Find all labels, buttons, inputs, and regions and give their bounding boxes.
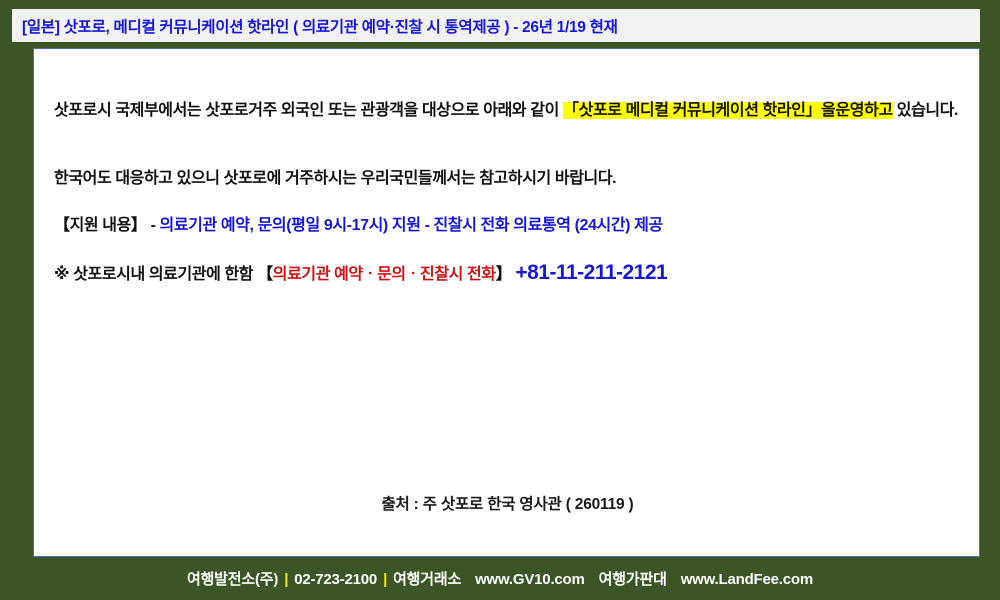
footer-company: 여행발전소(주) bbox=[187, 571, 278, 588]
footer-bar: 여행발전소(주)|02-723-2100|여행거래소www.GV10.com여행… bbox=[0, 557, 1000, 600]
footer-brand-1-label: 여행거래소 bbox=[393, 571, 461, 588]
note-prefix: ※ 삿포로시내 의료기관에 한함 【 bbox=[54, 266, 273, 283]
notice-line: 한국어도 대응하고 있으니 삿포로에 거주하시는 우리국민들께서는 참고하시기 … bbox=[54, 164, 981, 194]
intro-highlight-1: 「삿포로 메디컬 커뮤니케이션 핫라인」을 bbox=[563, 102, 835, 119]
footer-brand-1-url[interactable]: www.GV10.com bbox=[475, 571, 585, 588]
poster-page: [일본] 삿포로, 메디컬 커뮤니케이션 핫라인 ( 의료기관 예약·진찰 시 … bbox=[0, 0, 1000, 600]
footer-text: 여행발전소(주)|02-723-2100|여행거래소www.GV10.com여행… bbox=[187, 568, 813, 589]
content-card: 삿포로시 국제부에서는 삿포로거주 외국인 또는 관광객을 대상으로 아래와 같… bbox=[33, 48, 980, 557]
notice-paragraph: 한국어도 대응하고 있으니 삿포로에 거주하시는 우리국민들께서는 참고하시기 … bbox=[21, 164, 981, 194]
footer-brand-2-url[interactable]: www.LandFee.com bbox=[681, 571, 813, 588]
footer-separator-2: | bbox=[377, 571, 393, 588]
content-card-inner: 삿포로시 국제부에서는 삿포로거주 외국인 또는 관광객을 대상으로 아래와 같… bbox=[34, 49, 979, 556]
note-line: ※ 삿포로시내 의료기관에 한함 【의료기관 예약ㆍ문의ㆍ진찰시 전화】 +81… bbox=[54, 258, 981, 290]
support-paragraph: 【지원 내용】 - 의료기관 예약, 문의(평일 9시-17시) 지원 - 진찰… bbox=[21, 211, 981, 241]
footer-brand-2-label: 여행가판대 bbox=[599, 571, 667, 588]
footer-phone[interactable]: 02-723-2100 bbox=[294, 571, 377, 588]
source-credit: 출처 : 주 삿포로 한국 영사관 ( 260119 ) bbox=[34, 492, 981, 514]
note-suffix: 】 bbox=[496, 266, 516, 283]
note-paragraph: ※ 삿포로시내 의료기관에 한함 【의료기관 예약ㆍ문의ㆍ진찰시 전화】 +81… bbox=[21, 258, 981, 290]
support-detail: 의료기관 예약, 문의(평일 9시-17시) 지원 - 진찰시 전화 의료통역 … bbox=[160, 217, 663, 234]
intro-line: 삿포로시 국제부에서는 삿포로거주 외국인 또는 관광객을 대상으로 아래와 같… bbox=[54, 96, 981, 126]
title-band: [일본] 삿포로, 메디컬 커뮤니케이션 핫라인 ( 의료기관 예약·진찰 시 … bbox=[12, 9, 980, 42]
intro-paragraph: 삿포로시 국제부에서는 삿포로거주 외국인 또는 관광객을 대상으로 아래와 같… bbox=[21, 96, 981, 126]
intro-highlight-2: 운영하고 bbox=[835, 102, 892, 119]
page-title: [일본] 삿포로, 메디컬 커뮤니케이션 핫라인 ( 의료기관 예약·진찰 시 … bbox=[22, 15, 618, 37]
footer-separator-1: | bbox=[278, 571, 294, 588]
intro-text-part1: 삿포로시 국제부에서는 삿포로거주 외국인 또는 관광객을 대상으로 아래와 같… bbox=[54, 102, 563, 119]
intro-text-part2: 있습니다. bbox=[893, 102, 958, 119]
support-label: 【지원 내용】 - bbox=[54, 217, 160, 234]
note-red-text: 의료기관 예약ㆍ문의ㆍ진찰시 전화 bbox=[273, 266, 496, 283]
support-line: 【지원 내용】 - 의료기관 예약, 문의(평일 9시-17시) 지원 - 진찰… bbox=[54, 211, 981, 241]
hotline-phone-number[interactable]: +81-11-211-2121 bbox=[515, 261, 667, 284]
